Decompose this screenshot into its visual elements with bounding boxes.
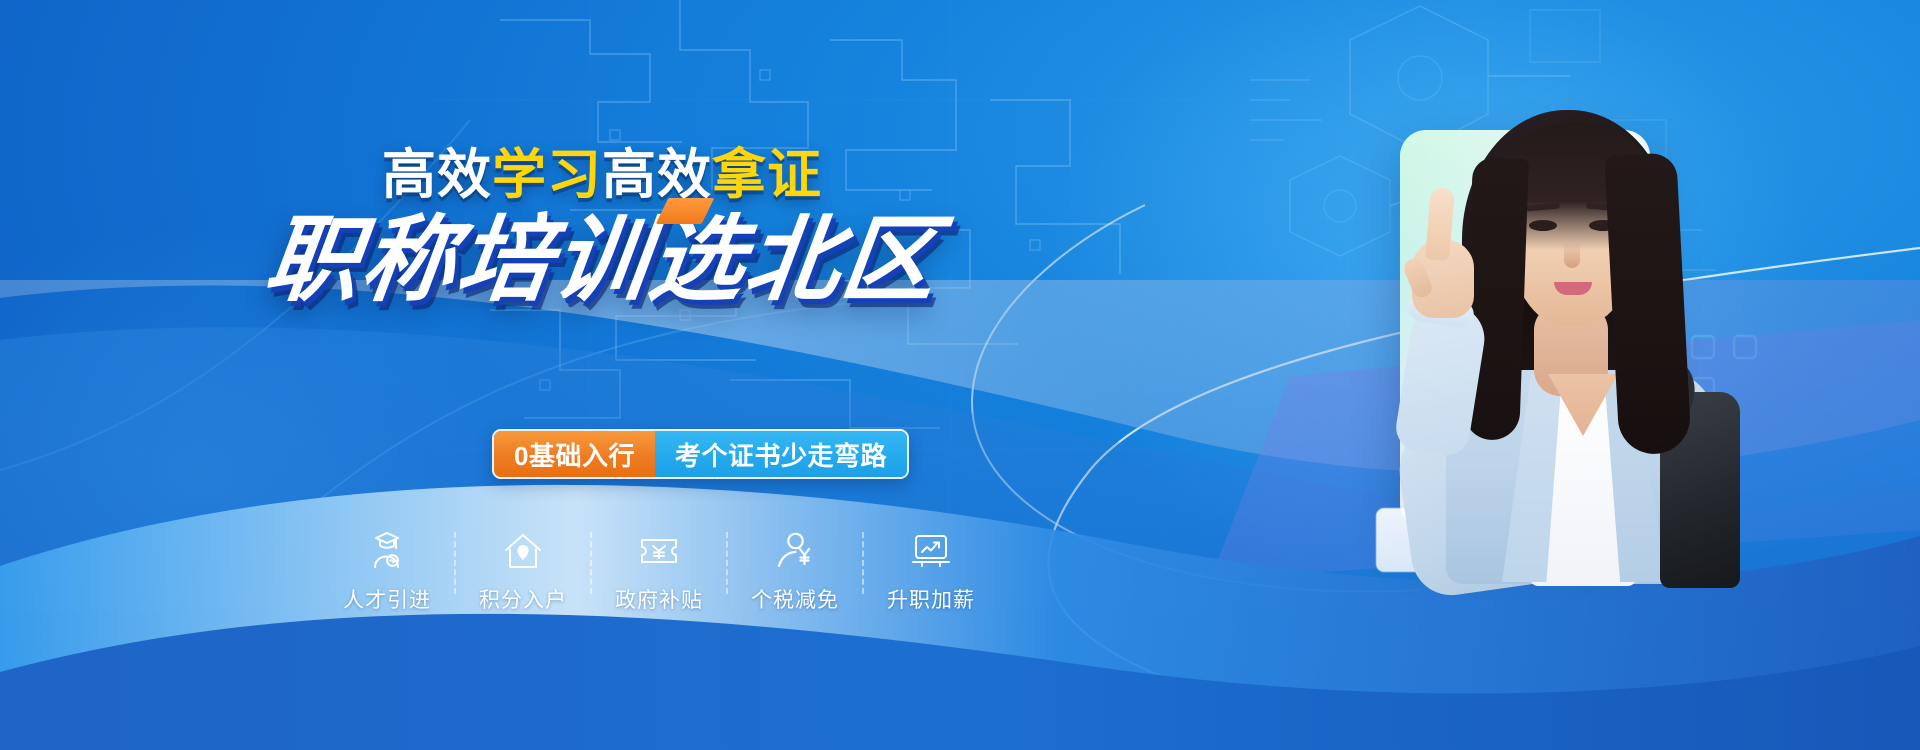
feature-label: 个税减免: [751, 584, 839, 614]
pill-segment-fewer-detours[interactable]: 考个证书少走弯路: [655, 431, 907, 477]
ticket-yuan-icon: [636, 528, 682, 574]
hair-side-right: [1604, 152, 1692, 455]
feature-item-talent-introduction[interactable]: 人才引进: [320, 528, 454, 614]
growth-chart-board-icon: [908, 528, 954, 574]
feature-item-points-residency[interactable]: 积分入户: [456, 528, 590, 614]
feature-label: 升职加薪: [887, 584, 975, 614]
kicker-seg-3: 高效: [602, 145, 712, 205]
feature-label: 政府补贴: [615, 584, 703, 614]
kicker-seg-1: 高效: [382, 145, 492, 205]
kicker-seg-2: 学习: [492, 145, 602, 205]
feature-item-tax-reduction[interactable]: 个税减免: [728, 528, 862, 614]
person-yuan-icon: [772, 528, 818, 574]
hero-illustration: [1100, 0, 1920, 750]
presenter-photo: [1312, 92, 1832, 572]
headline-block: 高效学习高效拿证 职称培训选北区: [252, 148, 952, 308]
house-pin-icon: [500, 528, 546, 574]
feature-item-promotion-raise[interactable]: 升职加薪: [864, 528, 998, 614]
promo-banner: 高效学习高效拿证 职称培训选北区 0基础入行 考个证书少走弯路: [0, 0, 1920, 750]
feature-item-government-subsidy[interactable]: 政府补贴: [592, 528, 726, 614]
feature-label: 人才引进: [343, 584, 431, 614]
title-text: 职称培训选北区: [260, 207, 945, 312]
pill-segment-zero-basis[interactable]: 0基础入行: [494, 431, 655, 477]
kicker-line: 高效学习高效拿证: [252, 148, 952, 202]
feature-label: 积分入户: [479, 584, 567, 614]
kicker-seg-4: 拿证: [712, 145, 822, 205]
page-title: 职称培训选北区: [246, 212, 958, 308]
graduate-person-icon: [364, 528, 410, 574]
tagline-pill[interactable]: 0基础入行 考个证书少走弯路: [492, 429, 909, 479]
feature-list: 人才引进 积分入户 政府补: [320, 528, 998, 614]
